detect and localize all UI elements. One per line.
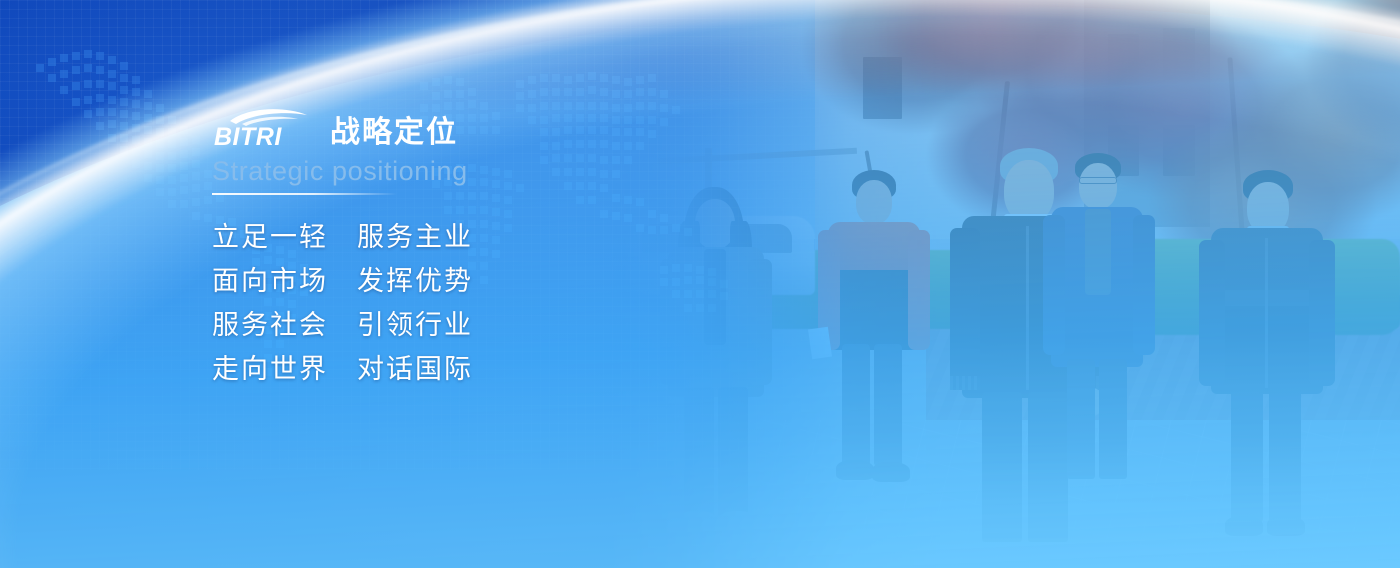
bitri-logo[interactable]: BITRI <box>212 108 316 150</box>
brand-title-cn: 战略定位 <box>330 118 458 150</box>
slogan-list: 立足一轻 服务主业 面向市场 发挥优势 服务社会 引领行业 走向世界 对话国际 <box>212 215 772 391</box>
strategic-positioning-banner: BITRI 战略定位 Strategic positioning 立足一轻 服务… <box>0 0 1400 568</box>
title-divider <box>212 193 397 195</box>
banner-text-block: BITRI 战略定位 Strategic positioning 立足一轻 服务… <box>212 108 772 391</box>
slogan-line-1: 立足一轻 服务主业 <box>212 215 772 259</box>
slogan-line-4: 走向世界 对话国际 <box>212 347 772 391</box>
brand-lockup: BITRI 战略定位 <box>212 108 772 150</box>
svg-text:BITRI: BITRI <box>214 123 282 150</box>
slogan-line-2: 面向市场 发挥优势 <box>212 259 772 303</box>
slogan-line-3: 服务社会 引领行业 <box>212 303 772 347</box>
brand-subtitle-en: Strategic positioning <box>212 156 772 187</box>
